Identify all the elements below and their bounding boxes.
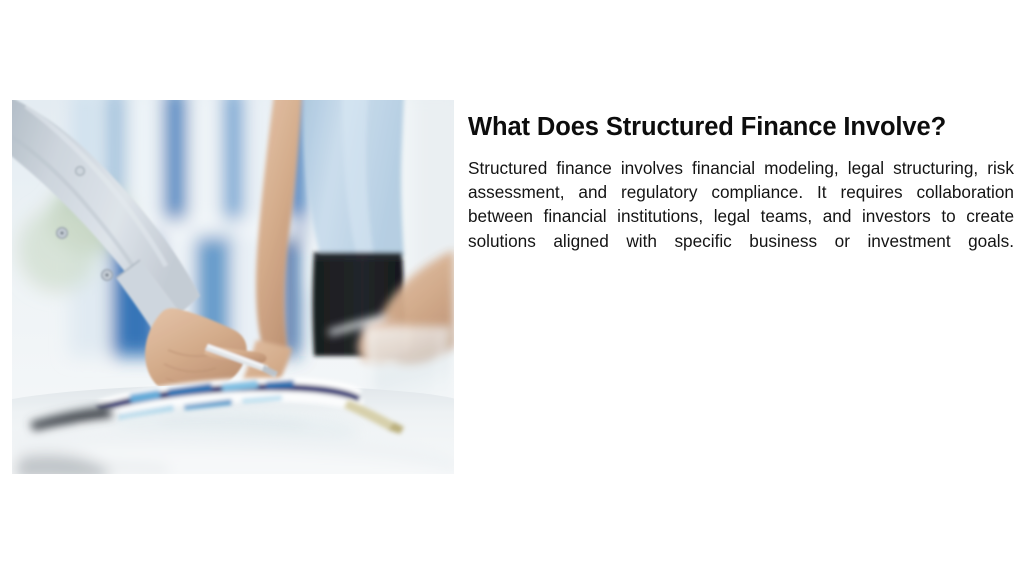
text-column: What Does Structured Finance Involve? St… [468,112,1014,277]
page-title: What Does Structured Finance Involve? [468,112,1014,142]
body-paragraph: Structured finance involves financial mo… [468,156,1014,277]
hero-photo [12,100,454,474]
slide-canvas: What Does Structured Finance Involve? St… [0,0,1024,576]
